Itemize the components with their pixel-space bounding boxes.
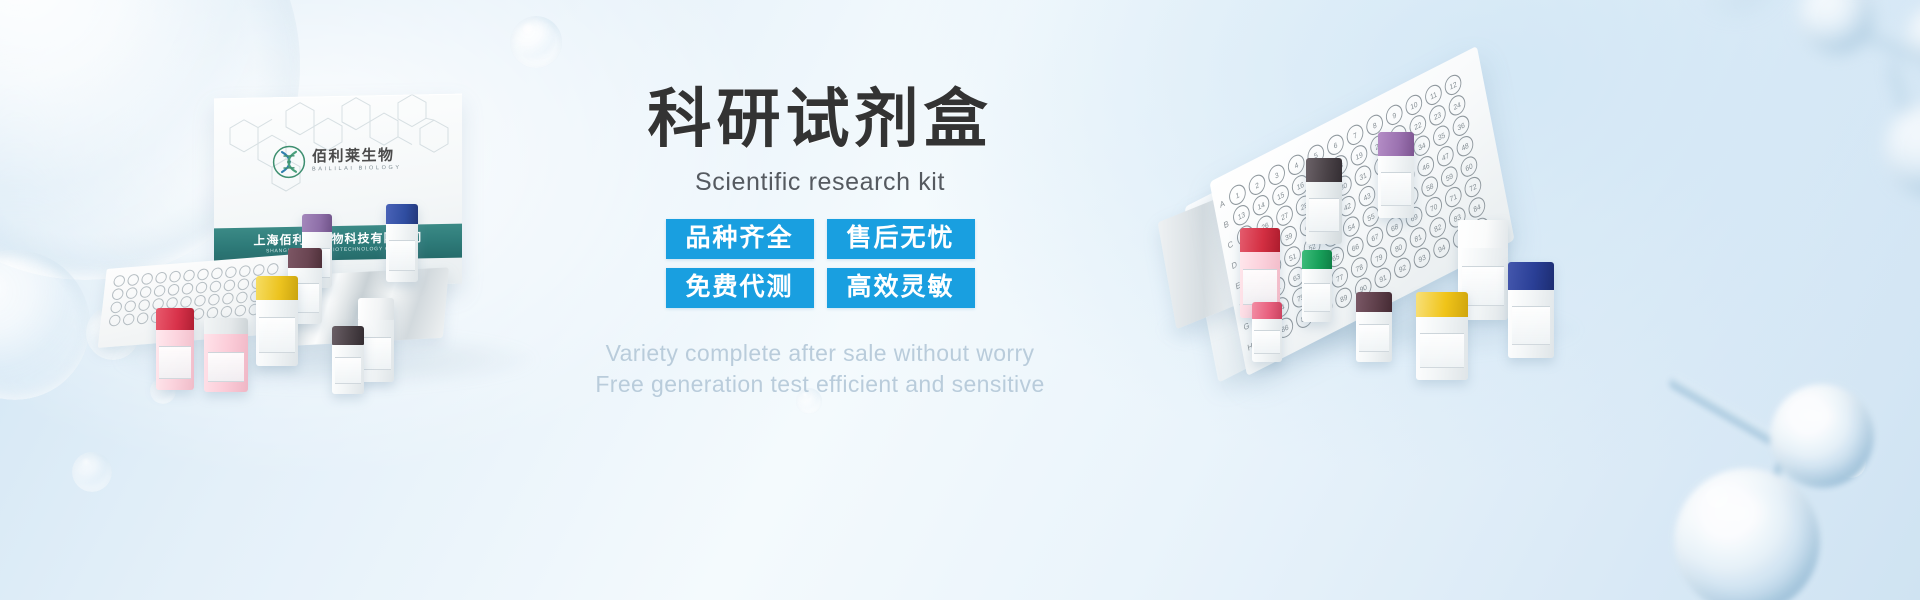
vial-cap bbox=[386, 204, 418, 226]
svg-text:86: 86 bbox=[1281, 323, 1290, 335]
svg-text:71: 71 bbox=[1449, 192, 1458, 204]
vial-pink-cap bbox=[1252, 302, 1282, 362]
svg-text:48: 48 bbox=[1461, 141, 1470, 153]
molecule-atom bbox=[1674, 468, 1820, 600]
water-bubble-bottomleft bbox=[72, 452, 112, 492]
svg-text:79: 79 bbox=[1375, 253, 1384, 265]
svg-text:46: 46 bbox=[1422, 161, 1431, 173]
kit-brand-name-cn: 佰利莱生物 bbox=[312, 148, 402, 165]
svg-text:31: 31 bbox=[1359, 171, 1368, 183]
vial-cap bbox=[256, 276, 298, 302]
vial-label bbox=[1243, 269, 1277, 305]
svg-text:14: 14 bbox=[1257, 201, 1266, 213]
molecule-atom bbox=[1906, 6, 1920, 68]
vial-maroon-cap bbox=[1356, 292, 1392, 362]
svg-text:84: 84 bbox=[1473, 203, 1482, 215]
vial-label bbox=[361, 337, 391, 371]
svg-text:2: 2 bbox=[1255, 181, 1260, 191]
tagline-line-2: Free generation test efficient and sensi… bbox=[540, 369, 1100, 401]
svg-text:15: 15 bbox=[1277, 191, 1286, 203]
svg-text:16: 16 bbox=[1296, 181, 1305, 193]
vial-red-cap bbox=[156, 308, 194, 390]
vial-label bbox=[1420, 333, 1464, 368]
svg-text:43: 43 bbox=[1363, 191, 1372, 203]
svg-text:82: 82 bbox=[1434, 223, 1443, 235]
vial-green-cap bbox=[1302, 250, 1332, 322]
svg-text:55: 55 bbox=[1367, 212, 1376, 224]
svg-text:B: B bbox=[1223, 219, 1230, 231]
vial-purple-cap bbox=[1378, 132, 1414, 218]
vial-label bbox=[1381, 172, 1411, 206]
feature-badge-group: 品种齐全 售后无忧 免费代测 高效灵敏 bbox=[660, 219, 980, 308]
right-product-photo: ABCD EFGH 1234 5678 9101112 bbox=[1040, 110, 1600, 360]
tagline-block: Variety complete after sale without worr… bbox=[540, 338, 1100, 401]
vial-label bbox=[389, 240, 416, 271]
feature-badge-2[interactable]: 免费代测 bbox=[666, 268, 814, 308]
page-title: 科研试剂盒 bbox=[540, 84, 1100, 156]
dna-helix-icon bbox=[272, 145, 306, 180]
vial-label bbox=[335, 357, 362, 384]
svg-text:80: 80 bbox=[1394, 243, 1403, 255]
svg-text:7: 7 bbox=[1353, 131, 1358, 141]
svg-text:89: 89 bbox=[1340, 293, 1349, 305]
svg-text:D: D bbox=[1231, 260, 1238, 272]
svg-text:91: 91 bbox=[1379, 273, 1388, 285]
molecule-atom bbox=[1700, 0, 1770, 6]
svg-text:77: 77 bbox=[1336, 273, 1345, 285]
vial-cap bbox=[1416, 292, 1468, 319]
vial-cap bbox=[1458, 220, 1508, 250]
vial-label bbox=[1254, 330, 1279, 354]
vial-label bbox=[1304, 283, 1329, 312]
molecule-atom bbox=[1770, 384, 1874, 488]
vial-cap bbox=[288, 248, 322, 269]
vial-cap bbox=[1356, 292, 1392, 314]
vial-blue-cap bbox=[386, 204, 418, 282]
vial-cap bbox=[302, 214, 332, 234]
svg-text:8: 8 bbox=[1372, 121, 1377, 131]
water-bubble-center-top bbox=[510, 16, 562, 68]
svg-text:9: 9 bbox=[1392, 111, 1397, 121]
svg-text:72: 72 bbox=[1469, 182, 1478, 194]
vial-label bbox=[1462, 266, 1504, 306]
vial-label bbox=[1359, 324, 1389, 352]
molecule-structure-rightfar bbox=[1700, 0, 1920, 110]
molecule-bond bbox=[1839, 15, 1920, 63]
svg-text:23: 23 bbox=[1433, 111, 1442, 123]
svg-text:39: 39 bbox=[1284, 231, 1293, 243]
kit-brand-name-en: BAILILAI BIOLOGY bbox=[312, 166, 402, 173]
left-product-photo: 佰利莱生物 BAILILAI BIOLOGY 上海佰利莱生物科技有限公司 SHA… bbox=[96, 96, 566, 396]
svg-text:12: 12 bbox=[1449, 80, 1458, 92]
vial-cap bbox=[332, 326, 364, 345]
svg-text:G: G bbox=[1243, 321, 1250, 333]
vial-darkgray-cap bbox=[332, 326, 364, 394]
kit-brand-logo: 佰利莱生物 BAILILAI BIOLOGY bbox=[272, 143, 402, 179]
water-bubble-right-upper bbox=[1836, 448, 1866, 478]
hero-copy-block: 科研试剂盒 Scientific research kit 品种齐全 售后无忧 … bbox=[540, 84, 1100, 401]
svg-text:34: 34 bbox=[1418, 141, 1427, 153]
svg-text:58: 58 bbox=[1426, 182, 1435, 194]
svg-text:13: 13 bbox=[1237, 210, 1246, 222]
svg-text:78: 78 bbox=[1355, 263, 1364, 275]
vial-blue-cap bbox=[1508, 262, 1554, 358]
feature-badge-3[interactable]: 高效灵敏 bbox=[827, 268, 975, 308]
svg-text:C: C bbox=[1227, 239, 1234, 251]
svg-text:59: 59 bbox=[1445, 172, 1454, 184]
molecule-bond bbox=[1667, 375, 1779, 446]
svg-text:35: 35 bbox=[1437, 131, 1446, 143]
molecule-atom bbox=[1798, 0, 1874, 54]
vial-pink-body bbox=[204, 318, 248, 392]
svg-text:6: 6 bbox=[1333, 141, 1338, 151]
vial-yellow-cap bbox=[1416, 292, 1468, 380]
feature-badge-0[interactable]: 品种齐全 bbox=[666, 219, 814, 259]
banner-root: 佰利莱生物 BAILILAI BIOLOGY 上海佰利莱生物科技有限公司 SHA… bbox=[0, 0, 1920, 600]
vial-label bbox=[1512, 306, 1551, 344]
vial-cap bbox=[1306, 158, 1342, 184]
svg-text:1: 1 bbox=[1235, 191, 1240, 201]
svg-text:81: 81 bbox=[1414, 233, 1423, 245]
svg-text:51: 51 bbox=[1288, 252, 1297, 264]
vial-cap bbox=[156, 308, 194, 331]
svg-text:24: 24 bbox=[1453, 101, 1462, 113]
svg-text:27: 27 bbox=[1281, 211, 1290, 223]
vial-yellow-cap bbox=[256, 276, 298, 366]
vial-cap bbox=[1508, 262, 1554, 291]
vial-label bbox=[259, 317, 294, 353]
svg-text:3: 3 bbox=[1274, 171, 1279, 181]
tagline-line-1: Variety complete after sale without worr… bbox=[540, 338, 1100, 370]
svg-text:42: 42 bbox=[1343, 201, 1352, 213]
water-bubble-left-mid bbox=[0, 250, 90, 400]
svg-text:54: 54 bbox=[1347, 222, 1356, 234]
vial-cap bbox=[1378, 132, 1414, 158]
svg-text:70: 70 bbox=[1430, 202, 1439, 214]
svg-text:19: 19 bbox=[1355, 151, 1364, 163]
vial-label bbox=[159, 346, 191, 379]
water-bubble-right-lower bbox=[1706, 486, 1728, 508]
molecule-structure-topright bbox=[1790, 0, 1920, 184]
svg-text:67: 67 bbox=[1371, 232, 1380, 244]
vial-cap bbox=[358, 298, 394, 320]
svg-text:93: 93 bbox=[1418, 253, 1427, 265]
svg-text:47: 47 bbox=[1441, 151, 1450, 163]
vial-darkgray-cap bbox=[1306, 158, 1342, 244]
svg-text:A: A bbox=[1219, 198, 1226, 210]
svg-text:66: 66 bbox=[1351, 242, 1360, 254]
svg-text:10: 10 bbox=[1410, 100, 1419, 112]
feature-badge-1[interactable]: 售后无忧 bbox=[827, 219, 975, 259]
vial-label bbox=[208, 352, 245, 382]
svg-text:60: 60 bbox=[1465, 162, 1474, 174]
svg-text:11: 11 bbox=[1430, 90, 1438, 101]
vial-cap bbox=[1302, 250, 1332, 271]
svg-text:68: 68 bbox=[1390, 222, 1399, 234]
page-subtitle: Scientific research kit bbox=[540, 168, 1100, 197]
svg-text:63: 63 bbox=[1292, 272, 1301, 284]
vial-cap bbox=[1240, 228, 1280, 254]
molecule-atom bbox=[1884, 104, 1920, 196]
svg-text:92: 92 bbox=[1398, 263, 1407, 275]
molecule-bond bbox=[1888, 60, 1919, 133]
svg-text:4: 4 bbox=[1294, 161, 1299, 171]
molecule-structure-rightmid bbox=[1598, 350, 1898, 600]
svg-text:36: 36 bbox=[1457, 121, 1466, 133]
svg-text:22: 22 bbox=[1414, 121, 1423, 133]
molecule-bond bbox=[1754, 450, 1792, 546]
svg-text:94: 94 bbox=[1438, 243, 1447, 255]
svg-text:65: 65 bbox=[1332, 252, 1341, 264]
vial-label bbox=[1309, 198, 1339, 232]
